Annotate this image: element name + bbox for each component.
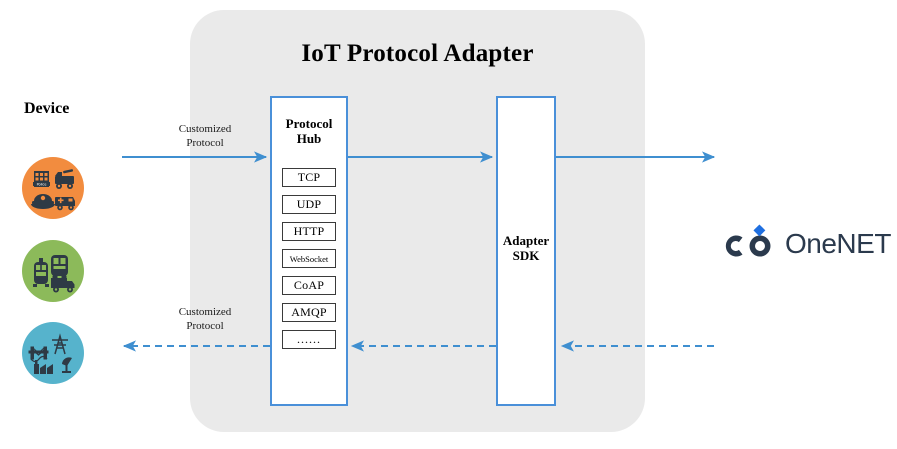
uplink-flow-label: Customized Protocol bbox=[140, 122, 270, 150]
downlink-flow-label-line2: Protocol bbox=[140, 319, 270, 333]
onenet-wordmark: OneNET bbox=[785, 230, 891, 258]
uplink-flow-label-line2: Protocol bbox=[140, 136, 270, 150]
onenet-logo-mark-icon bbox=[722, 224, 778, 264]
industrial-infrastructure-device-icon bbox=[22, 322, 84, 384]
protocol-item-websocket[interactable]: WebSocket bbox=[282, 249, 336, 268]
uplink-flow-label-line1: Customized bbox=[140, 122, 270, 136]
downlink-flow-label: Customized Protocol bbox=[140, 305, 270, 333]
protocol-item-http[interactable]: HTTP bbox=[282, 222, 336, 241]
device-column-label: Device bbox=[24, 100, 69, 118]
protocol-list: TCP UDP HTTP WebSocket CoAP AMQP ...... bbox=[282, 168, 336, 357]
iot-protocol-adapter-panel bbox=[190, 10, 645, 432]
page-title: IoT Protocol Adapter bbox=[190, 40, 645, 68]
protocol-item-coap[interactable]: CoAP bbox=[282, 276, 336, 295]
svg-text:Police: Police bbox=[37, 182, 47, 186]
emergency-services-device-icon: Police bbox=[22, 157, 84, 219]
diagram-canvas: IoT Protocol Adapter Device Police bbox=[0, 0, 897, 449]
protocol-hub-title-line2: Hub bbox=[270, 131, 348, 146]
protocol-hub-title-line1: Protocol bbox=[270, 116, 348, 131]
protocol-item-more[interactable]: ...... bbox=[282, 330, 336, 349]
transportation-device-icon bbox=[22, 240, 84, 302]
adapter-sdk-title-line2: SDK bbox=[496, 248, 556, 263]
adapter-sdk-title: Adapter SDK bbox=[496, 233, 556, 263]
protocol-item-tcp[interactable]: TCP bbox=[282, 168, 336, 187]
adapter-sdk-title-line1: Adapter bbox=[496, 233, 556, 248]
protocol-item-udp[interactable]: UDP bbox=[282, 195, 336, 214]
onenet-logo: OneNET bbox=[722, 224, 891, 264]
protocol-hub-title: Protocol Hub bbox=[270, 116, 348, 146]
downlink-flow-label-line1: Customized bbox=[140, 305, 270, 319]
protocol-item-amqp[interactable]: AMQP bbox=[282, 303, 336, 322]
